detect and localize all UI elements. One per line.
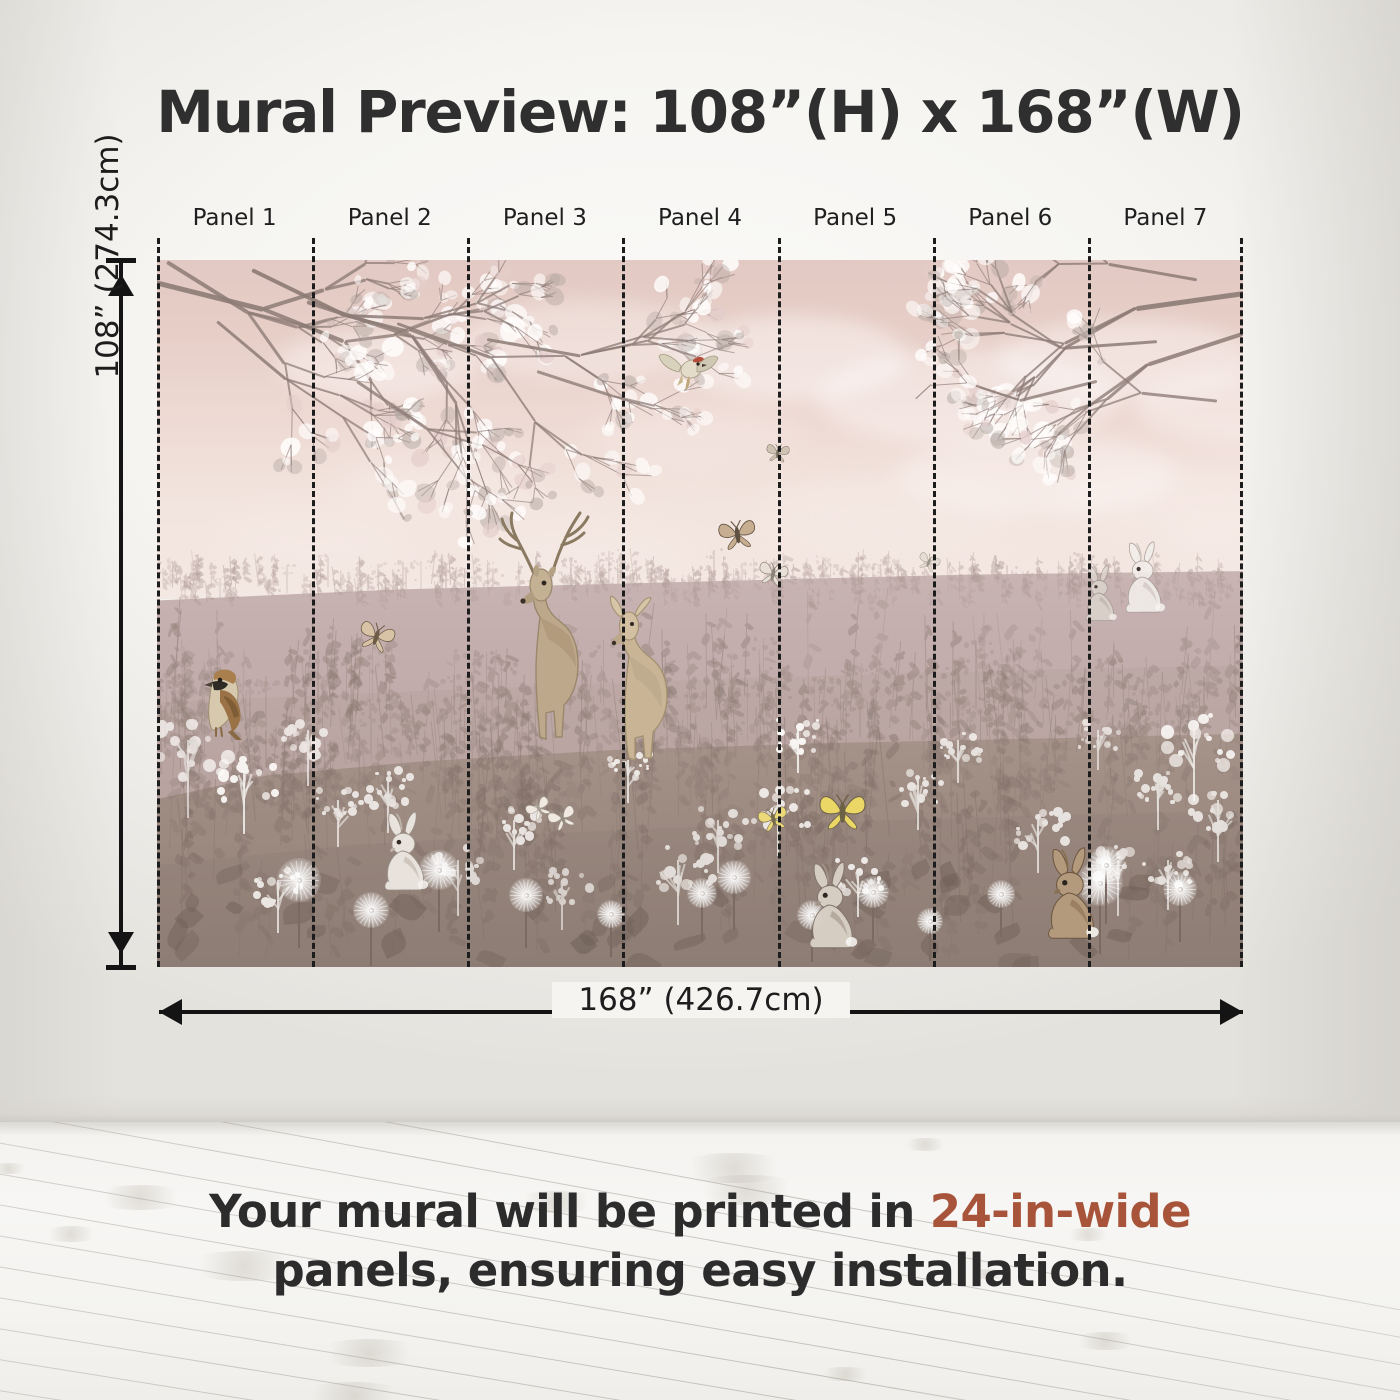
plant-sprig — [970, 572, 972, 602]
mural-artwork — [157, 260, 1243, 967]
plant-sprig — [701, 734, 703, 783]
plant-sprig — [912, 567, 914, 594]
plant-sprig — [385, 575, 387, 590]
plant-sprig — [1014, 640, 1016, 727]
plant-sprig — [234, 585, 236, 599]
floor-grain — [296, 1382, 411, 1400]
height-dimension-label: 108” (274.3cm) — [90, 126, 126, 386]
plant-sprig — [244, 558, 246, 579]
moth-panel3 — [525, 797, 552, 819]
butterfly-grey-1 — [757, 560, 789, 587]
footer-caption: Your mural will be printed in 24-in-wide… — [0, 1182, 1400, 1301]
plant-sprig — [964, 822, 966, 884]
plant-sprig — [410, 714, 412, 757]
plant-sprig — [1132, 706, 1134, 753]
panel-divider-3 — [622, 238, 625, 967]
plant-sprig — [1057, 735, 1059, 790]
plant-sprig — [1142, 699, 1144, 753]
plant-sprig — [937, 587, 939, 600]
plant-sprig — [1113, 641, 1115, 698]
plant-sprig — [1227, 581, 1229, 600]
caption-highlight: 24-in-wide — [930, 1185, 1191, 1238]
panel-label-4: Panel 4 — [620, 205, 780, 231]
panel-label-3: Panel 3 — [465, 205, 625, 231]
plant-sprig — [893, 584, 895, 607]
plant-sprig — [331, 898, 333, 956]
plant-sprig — [817, 588, 819, 607]
rabbit-panel7-small — [1079, 560, 1123, 626]
cloud — [757, 480, 1017, 552]
plant-sprig — [378, 738, 380, 784]
plant-sprig — [449, 895, 451, 942]
plant-sprig — [1025, 582, 1027, 595]
floor-grain — [313, 1339, 425, 1367]
plant-sprig — [994, 555, 996, 580]
plant-sprig — [211, 562, 213, 585]
plant-sprig — [359, 729, 361, 799]
plant-sprig — [431, 550, 433, 584]
blossom — [1023, 307, 1034, 318]
plant-sprig — [1194, 638, 1196, 721]
plant-sprig — [258, 860, 260, 938]
plant-sprig — [1027, 666, 1029, 750]
plant-sprig — [949, 917, 951, 959]
moth-panel5 — [917, 552, 941, 572]
plant-sprig — [716, 626, 718, 720]
page-title: Mural Preview: 108”(H) x 168”(W) — [0, 78, 1400, 146]
plant-sprig — [207, 582, 209, 602]
butterfly-brown-1 — [357, 620, 396, 652]
plant-sprig — [426, 672, 428, 725]
wall-shadow-right — [1230, 0, 1400, 1122]
caption-line-2: panels, ensuring easy installation. — [0, 1241, 1400, 1300]
plant-sprig — [871, 646, 873, 723]
plant-sprig — [235, 561, 237, 585]
panel-label-6: Panel 6 — [930, 205, 1090, 231]
plant-sprig — [240, 823, 242, 890]
plant-sprig — [280, 781, 282, 845]
plant-sprig — [1076, 668, 1078, 752]
floor-grain — [1069, 1332, 1141, 1350]
plant-sprig — [694, 589, 696, 607]
plant-sprig — [436, 582, 438, 602]
plant-sprig — [1074, 568, 1076, 580]
butterfly-brown-2 — [717, 517, 758, 551]
plant-sprig — [304, 574, 306, 595]
plant-sprig — [391, 689, 393, 755]
plant-sprig — [754, 558, 756, 588]
plant-sprig — [170, 608, 172, 716]
width-dimension-line: 168” (426.7cm) — [159, 1010, 1243, 1014]
plant-sprig — [272, 554, 274, 585]
mural-preview-container[interactable]: Panel 1Panel 2Panel 3Panel 4Panel 5Panel… — [157, 260, 1243, 967]
panel-divider-5 — [933, 238, 936, 967]
plant-sprig — [718, 608, 720, 693]
width-dimension-text: 168” (426.7cm) — [552, 982, 849, 1018]
plant-sprig — [327, 727, 329, 850]
plant-sprig — [904, 848, 906, 895]
plant-sprig — [195, 592, 197, 603]
sparrow-figure — [192, 660, 258, 744]
plant-sprig — [1149, 657, 1151, 710]
panel-divider-6 — [1088, 238, 1091, 967]
caption-line-1: Your mural will be printed in 24-in-wide — [0, 1182, 1400, 1241]
plant-sprig — [1229, 655, 1231, 734]
plant-sprig — [923, 722, 925, 770]
height-cap-bottom — [106, 965, 136, 970]
plant-sprig — [1021, 735, 1023, 797]
rabbit-panel2 — [375, 805, 437, 897]
butterfly-yellow-small — [757, 805, 789, 832]
plant-sprig — [1013, 813, 1015, 933]
plant-sprig — [292, 770, 294, 840]
panel-label-5: Panel 5 — [775, 205, 935, 231]
plant-sprig — [381, 585, 383, 606]
plant-sprig — [473, 653, 475, 691]
plant-sprig — [889, 658, 891, 728]
plant-sprig — [984, 613, 986, 708]
plant-sprig — [959, 575, 961, 600]
plant-sprig — [213, 779, 215, 878]
flying-bird-figure — [657, 350, 719, 394]
floor-grain — [816, 1367, 875, 1382]
plant-sprig — [1207, 590, 1209, 695]
rabbit-panel5 — [799, 855, 867, 955]
plant-sprig — [163, 568, 165, 589]
plant-sprig — [1072, 610, 1074, 695]
plant-sprig — [357, 558, 359, 582]
plant-sprig — [753, 769, 755, 903]
panel-label-1: Panel 1 — [155, 205, 315, 231]
plant-sprig — [852, 564, 854, 586]
plant-sprig — [1069, 566, 1071, 593]
plant-sprig — [393, 569, 395, 594]
plant-sprig — [921, 809, 923, 859]
plant-sprig — [205, 783, 207, 817]
branch-twig — [498, 260, 500, 272]
plant-sprig — [1209, 814, 1211, 942]
panel-label-2: Panel 2 — [310, 205, 470, 231]
plant-sprig — [808, 591, 810, 693]
panel-divider-2 — [467, 238, 470, 967]
doe-figure — [589, 560, 685, 765]
plant-sprig — [488, 739, 490, 828]
plant-sprig — [859, 571, 861, 599]
panel-divider-0 — [157, 238, 160, 967]
plant-sprig — [455, 592, 457, 604]
plant-sprig — [1197, 553, 1199, 578]
plant-sprig — [348, 578, 350, 593]
plant-sprig — [1188, 569, 1190, 580]
plant-sprig — [350, 636, 352, 737]
plant-sprig — [889, 719, 891, 835]
rabbit-panel7-large — [1117, 535, 1173, 619]
plant-sprig — [492, 782, 494, 871]
plant-sprig — [951, 563, 953, 589]
plant-sprig — [1042, 694, 1044, 802]
floor-grain — [0, 1163, 31, 1174]
plant-sprig — [1181, 626, 1183, 694]
plant-sprig — [329, 618, 331, 696]
height-arrow-down — [108, 932, 134, 954]
plant-sprig — [990, 762, 992, 900]
branch-twig — [298, 326, 332, 328]
plant-sprig — [722, 697, 724, 733]
panel-divider-7 — [1240, 238, 1243, 967]
caption-line1-before: Your mural will be printed in — [209, 1185, 930, 1238]
plant-sprig — [1193, 574, 1195, 608]
plant-sprig — [1002, 575, 1004, 603]
plant-sprig — [196, 575, 198, 588]
floor-grain — [900, 1138, 950, 1151]
panel-divider-1 — [312, 238, 315, 967]
plant-sprig — [185, 573, 187, 588]
plant-sprig — [484, 850, 486, 939]
plant-sprig — [1192, 824, 1194, 919]
width-dimension-label: 168” (426.7cm) — [159, 982, 1243, 1018]
plant-sprig — [347, 847, 349, 941]
plant-sprig — [980, 792, 982, 859]
butterfly-yellow-large — [817, 790, 868, 832]
plant-sprig — [876, 587, 878, 693]
plant-sprig — [902, 570, 904, 586]
plant-sprig — [930, 590, 932, 606]
plant-sprig — [610, 826, 612, 879]
plant-sprig — [842, 566, 844, 582]
plant-sprig — [258, 553, 260, 586]
rabbit-panel6 — [1037, 840, 1109, 946]
panel-label-7: Panel 7 — [1085, 205, 1245, 231]
plant-sprig — [916, 575, 918, 594]
plant-sprig — [335, 566, 337, 594]
plant-sprig — [544, 821, 546, 871]
plant-sprig — [1198, 592, 1200, 606]
plant-sprig — [978, 886, 980, 934]
plant-sprig — [869, 592, 871, 607]
branch-twig — [335, 359, 337, 374]
plant-sprig — [978, 573, 980, 589]
plant-sprig — [774, 819, 776, 938]
plant-sprig — [1034, 618, 1036, 699]
panel-divider-4 — [778, 238, 781, 967]
plant-sprig — [1127, 720, 1129, 816]
plant-sprig — [781, 659, 783, 697]
plant-sprig — [422, 730, 424, 783]
